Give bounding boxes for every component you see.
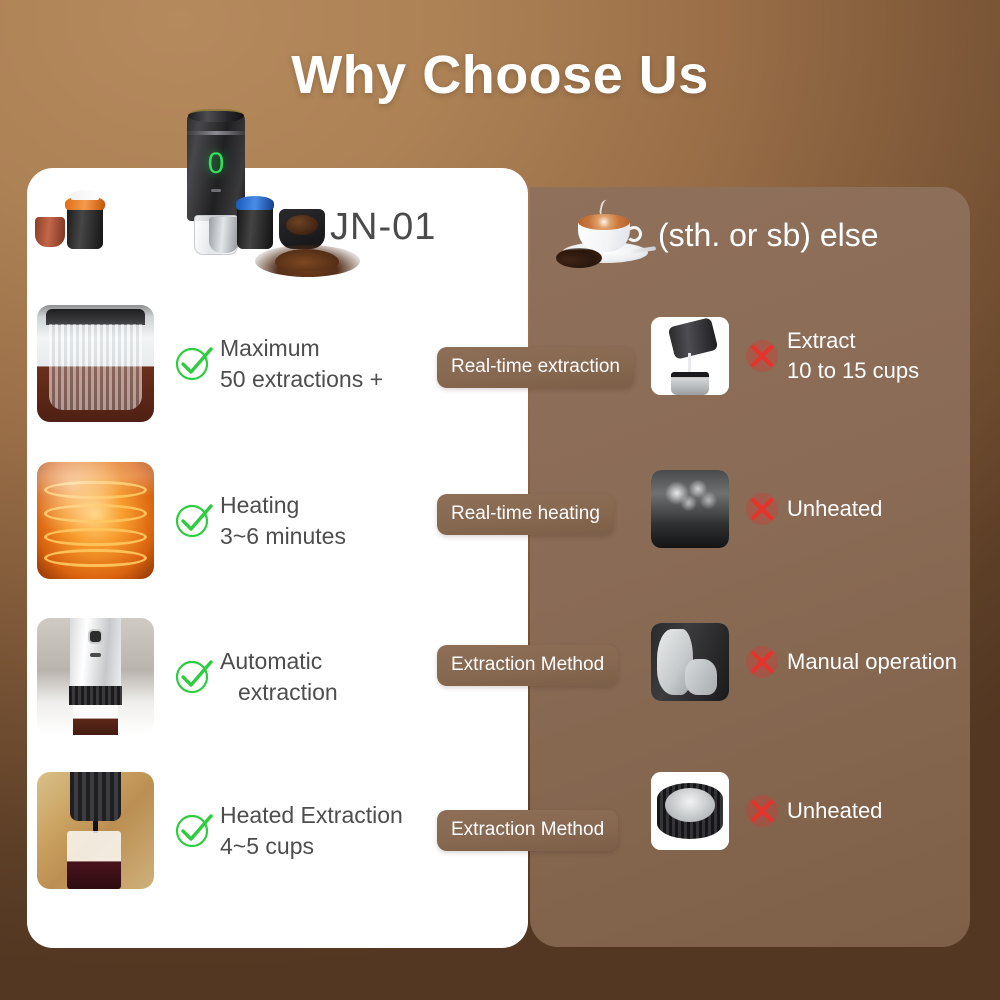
crema-swirl (578, 214, 630, 230)
capsule-red-icon (35, 217, 65, 247)
feature-line1: Heated Extraction (220, 802, 403, 828)
french-press-photo (651, 317, 729, 395)
coffee-beans-icon (556, 248, 602, 268)
cold-brew-photo (651, 470, 729, 548)
feature-line2: 3~6 minutes (220, 521, 346, 551)
competitor-feature-row: Unheated (651, 470, 882, 548)
hand-press-photo (651, 623, 729, 701)
competitor-header-label: (sth. or sb) else (658, 217, 879, 254)
check-circle-icon (174, 811, 214, 851)
competitor-text: Unheated (787, 796, 882, 826)
machine-band (187, 131, 245, 135)
competitor-text: Manual operation (787, 647, 957, 677)
feature-line1: Heating (220, 492, 299, 518)
product-hero: 0 (27, 105, 528, 280)
machine-indicator (211, 189, 221, 192)
feature-line2: extraction (238, 677, 338, 707)
competitor-line1: Unheated (787, 496, 882, 521)
competitor-line1: Unheated (787, 798, 882, 823)
heating-coils-photo (37, 462, 154, 579)
competitor-line1: Extract (787, 328, 855, 353)
product-feature-row: Heated Extraction 4~5 cups (37, 772, 403, 889)
cross-circle-icon (745, 645, 779, 679)
brew-basket-photo (37, 305, 154, 422)
competitor-text: Unheated (787, 494, 882, 524)
competitor-line2: 10 to 15 cups (787, 356, 919, 386)
cross-circle-icon (745, 794, 779, 828)
feature-line2: 50 extractions + (220, 364, 383, 394)
cup-handle (626, 226, 642, 242)
heated-extraction-photo (37, 772, 154, 889)
product-feature-row: Heating 3~6 minutes (37, 462, 346, 579)
page-title: Why Choose Us (0, 44, 1000, 106)
competitor-feature-row: Unheated (651, 772, 882, 850)
latte-cup-icon (556, 200, 660, 270)
product-feature-row: Maximum 50 extractions + (37, 305, 383, 422)
competitor-text: Extract 10 to 15 cups (787, 326, 919, 385)
capsule-silver-icon (209, 217, 239, 253)
coffee-grounds-icon (255, 245, 360, 277)
check-circle-icon (174, 344, 214, 384)
feature-text: Maximum 50 extractions + (220, 333, 383, 394)
product-feature-row: Automatic extraction (37, 618, 338, 735)
feature-line1: Maximum (220, 335, 320, 361)
comparison-label: Extraction Method (437, 645, 618, 686)
feature-text: Heating 3~6 minutes (220, 490, 346, 551)
comparison-label: Real-time heating (437, 494, 614, 535)
check-circle-icon (174, 501, 214, 541)
competitor-header: (sth. or sb) else (556, 200, 879, 270)
machine-top-ring (188, 109, 244, 122)
competitor-feature-row: Extract 10 to 15 cups (651, 317, 919, 395)
feature-line1: Automatic (220, 648, 322, 674)
capsule-orange-icon (67, 205, 103, 249)
competitor-line1: Manual operation (787, 649, 957, 674)
feature-text: Heated Extraction 4~5 cups (220, 800, 403, 861)
cross-circle-icon (745, 339, 779, 373)
comparison-label: Extraction Method (437, 810, 618, 851)
automatic-machine-photo (37, 618, 154, 735)
product-model-name: JN-01 (330, 206, 436, 249)
check-circle-icon (174, 657, 214, 697)
feature-line2: 4~5 cups (220, 831, 403, 861)
machine-display-value: 0 (187, 149, 245, 179)
capsule-open-icon (279, 209, 325, 249)
filter-basket-photo (651, 772, 729, 850)
competitor-feature-row: Manual operation (651, 623, 957, 701)
infographic-canvas: Why Choose Us 0 JN-01 (sth. or (0, 0, 1000, 1000)
feature-text: Automatic extraction (220, 646, 338, 707)
comparison-label: Real-time extraction (437, 347, 634, 388)
cross-circle-icon (745, 492, 779, 526)
capsule-blue-icon (237, 205, 273, 249)
